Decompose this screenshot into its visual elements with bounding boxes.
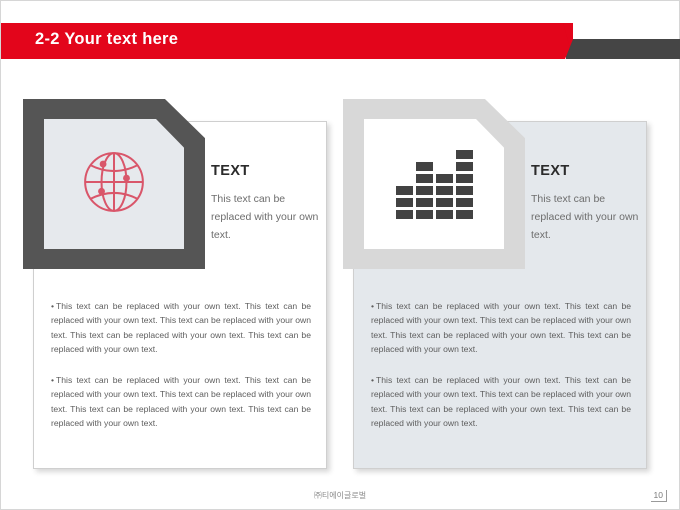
card-heading-block: TEXT This text can be replaced with your… [211,163,319,244]
card-paragraph: •This text can be replaced with your own… [51,373,311,430]
paragraph-text: This text can be replaced with your own … [51,301,311,354]
card-subheading: This text can be replaced with your own … [211,190,319,244]
icon-panel [44,119,184,249]
globe-icon [75,143,153,226]
bar-column [436,174,453,219]
bullet-marker: • [51,375,54,385]
page-title: 2-2 Your text here [35,30,178,49]
icon-panel [364,119,504,249]
card-paragraph-list: •This text can be replaced with your own… [51,299,311,447]
icon-frame [23,99,205,269]
card-heading: TEXT [531,163,639,179]
header-dark-accent-bar [566,39,680,59]
card-subheading: This text can be replaced with your own … [531,190,639,244]
card-paragraph: •This text can be replaced with your own… [371,299,631,356]
slide-canvas: 2-2 Your text here [0,0,680,510]
icon-frame [343,99,525,269]
bar-chart-icon [396,150,473,219]
content-card-left[interactable]: TEXT This text can be replaced with your… [33,121,327,469]
bullet-marker: • [371,301,374,311]
paragraph-text: This text can be replaced with your own … [371,301,631,354]
bar-column [456,150,473,219]
footer-company-name: ㈜티에이글로벌 [1,490,679,501]
bullet-marker: • [51,301,54,311]
content-card-right[interactable]: TEXT This text can be replaced with your… [353,121,647,469]
paragraph-text: This text can be replaced with your own … [371,375,631,428]
card-paragraph: •This text can be replaced with your own… [51,299,311,356]
page-number: 10 [651,490,667,502]
card-heading-block: TEXT This text can be replaced with your… [531,163,639,244]
card-paragraph: •This text can be replaced with your own… [371,373,631,430]
card-heading: TEXT [211,163,319,179]
bar-column [416,162,433,219]
paragraph-text: This text can be replaced with your own … [51,375,311,428]
card-paragraph-list: •This text can be replaced with your own… [371,299,631,447]
bullet-marker: • [371,375,374,385]
bar-column [396,186,413,219]
